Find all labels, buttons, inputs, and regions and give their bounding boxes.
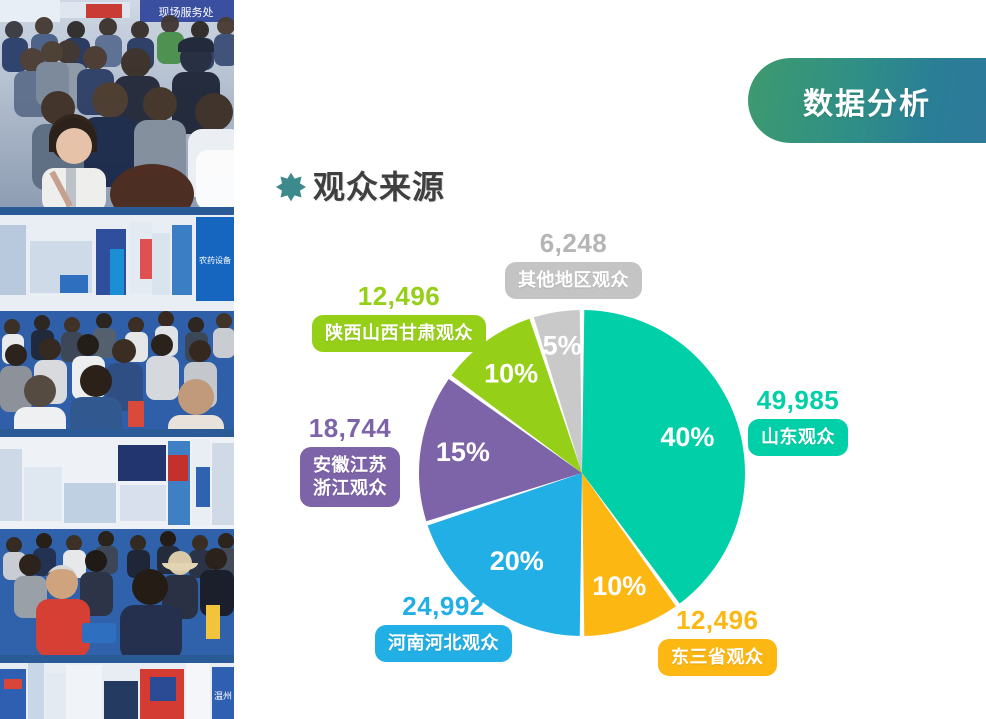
callout-value-anhui-jiangsu-zhejiang: 18,744 (309, 415, 392, 442)
callout-anhui-jiangsu-zhejiang: 18,744 安徽江苏 浙江观众 (300, 415, 400, 507)
pie-percent-label-1: 40% (660, 422, 714, 452)
photo-exhibition-crowd-entrance: 现场服务处 (0, 0, 234, 207)
callout-northeast-three-provinces: 12,496 东三省观众 (658, 607, 777, 676)
callout-value-other-regions: 6,248 (540, 230, 608, 257)
pie-slice-group (419, 310, 745, 636)
header-banner: 数据分析 (748, 58, 986, 143)
photo-exhibition-visitors-walking (0, 437, 234, 655)
callout-shandong: 49,985 山东观众 (748, 387, 848, 456)
pie-percent-label-6: 5% (543, 331, 582, 361)
pie-percent-label-3: 20% (490, 546, 544, 576)
section-title-label: 观众来源 (313, 162, 445, 208)
callout-label-anhui-jiangsu-zhejiang: 安徽江苏 浙江观众 (300, 447, 400, 507)
callout-label-shandong: 山东观众 (748, 419, 848, 456)
callout-label-other-regions: 其他地区观众 (505, 262, 642, 299)
callout-label-shaanxi-shanxi-gansu: 陕西山西甘肃观众 (312, 315, 486, 352)
photo-4-image: 温州 (0, 663, 234, 719)
pie-percent-label-5: 10% (484, 359, 538, 389)
eight-point-star-icon (276, 172, 306, 202)
svg-text:温州: 温州 (214, 691, 232, 701)
section-title: 观众来源 (276, 163, 445, 207)
callout-henan-hebei: 24,992 河南河北观众 (375, 593, 512, 662)
pie-percent-label-4: 15% (436, 437, 490, 467)
callout-shaanxi-shanxi-gansu: 12,496 陕西山西甘肃观众 (312, 283, 486, 352)
callout-value-northeast-three-provinces: 12,496 (676, 607, 759, 634)
pie-percent-label-2: 10% (592, 571, 646, 601)
callout-value-henan-hebei: 24,992 (402, 593, 485, 620)
callout-label-henan-hebei: 河南河北观众 (375, 625, 512, 662)
callout-value-shaanxi-shanxi-gansu: 12,496 (358, 283, 441, 310)
photo-1-image: 现场服务处 (0, 0, 234, 207)
svg-text:农药设备: 农药设备 (199, 255, 231, 265)
callout-other-regions: 6,248 其他地区观众 (505, 230, 642, 299)
photo-3-image (0, 437, 234, 655)
photo-2-image: 农药设备 (0, 215, 234, 429)
photo-exhibition-aisle-booths: 农药设备 (0, 215, 234, 429)
pie-chart-region: 40%10%20%15%10%5% 6,248 其他地区观众 12,496 陕西… (250, 225, 986, 695)
callout-label-northeast-three-provinces: 东三省观众 (658, 639, 777, 676)
photo-exhibition-booth-displays: 温州 (0, 663, 234, 719)
header-banner-title: 数据分析 (803, 79, 931, 123)
callout-value-shandong: 49,985 (757, 387, 840, 414)
photo-strip: 现场服务处 (0, 0, 234, 713)
